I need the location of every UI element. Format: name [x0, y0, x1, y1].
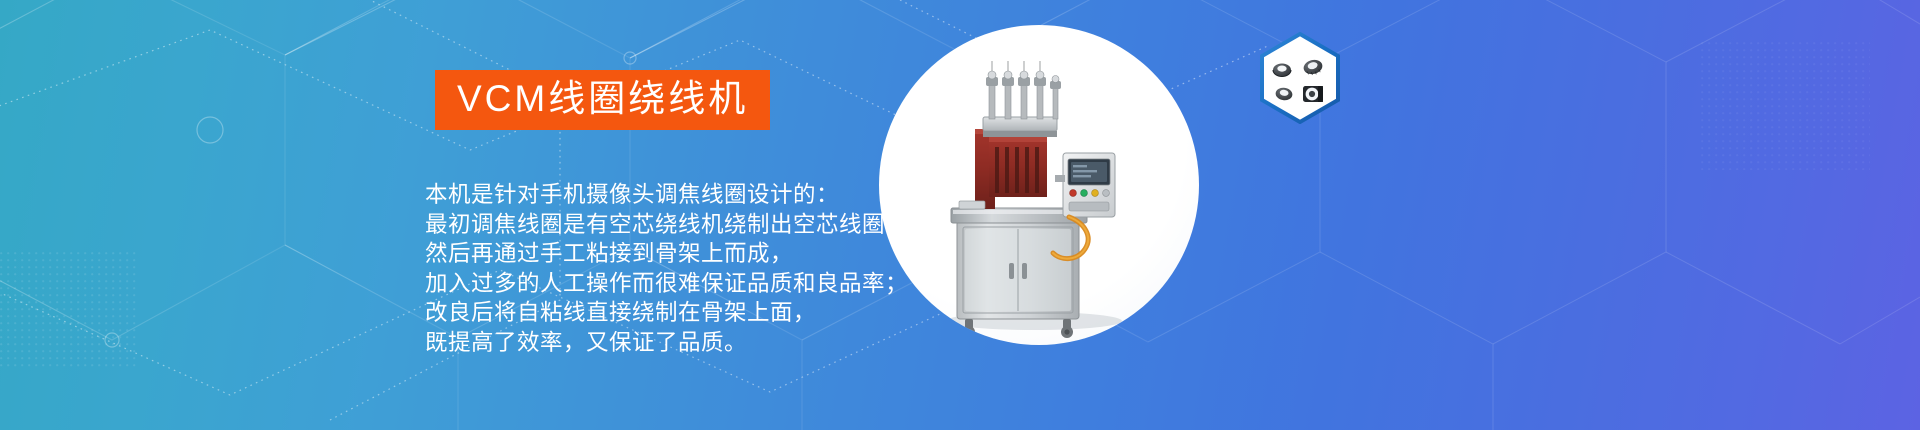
description-line-5: 改良后将自粘线直接绕制在骨架上面， — [425, 298, 908, 328]
description-line-2: 最初调焦线圈是有空芯绕线机绕制出空芯线圈， — [425, 210, 908, 240]
hexagon-outline — [1262, 34, 1338, 122]
banner-description: 本机是针对手机摄像头调焦线圈设计的： 最初调焦线圈是有空芯绕线机绕制出空芯线圈，… — [425, 180, 908, 357]
description-line-3: 然后再通过手工粘接到骨架上而成， — [425, 239, 908, 269]
product-photo-circle — [879, 25, 1199, 345]
vcm-coil-winding-machine-photo — [879, 25, 1199, 345]
page-title: VCM线圈绕线机 — [457, 80, 748, 117]
description-line-4: 加入过多的人工操作而很难保证品质和良品率； — [425, 269, 908, 299]
description-line-6: 既提高了效率，又保证了品质。 — [425, 328, 908, 358]
promo-banner: VCM线圈绕线机 本机是针对手机摄像头调焦线圈设计的： 最初调焦线圈是有空芯绕线… — [0, 0, 1920, 430]
banner-title-plate: VCM线圈绕线机 — [435, 70, 770, 130]
description-line-1: 本机是针对手机摄像头调焦线圈设计的： — [425, 180, 908, 210]
hexagon-coil-badge — [1258, 32, 1342, 124]
